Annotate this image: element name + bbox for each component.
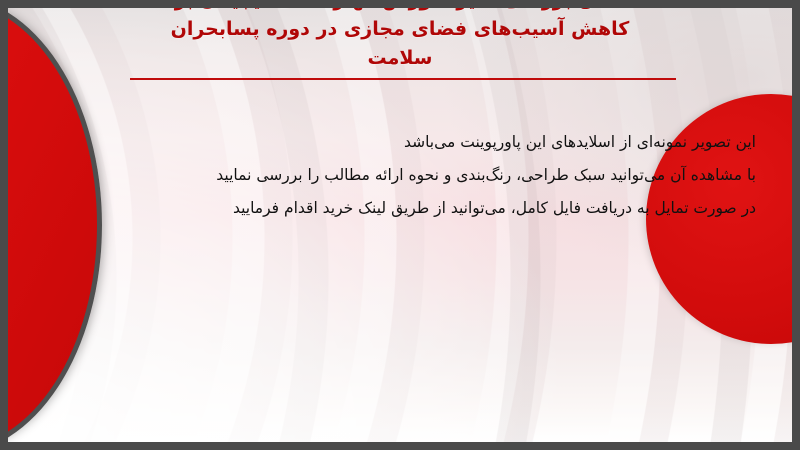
presentation-slide: کامل بررسی تأثیر آموزش مهارت‌های دیجیتال… <box>0 0 800 450</box>
body-line-2: با مشاهده آن می‌توانید سبک طراحی، رنگ‌بن… <box>66 159 756 192</box>
title-line-2: کاهش آسیب‌های فضای مجازی در دوره پسابحرا… <box>118 15 682 44</box>
title-divider <box>130 78 676 80</box>
title-line-3: سلامت <box>118 44 682 73</box>
slide-title: کامل بررسی تأثیر آموزش مهارت‌های دیجیتال… <box>8 8 792 73</box>
slide-body: این تصویر نمونه‌ای از اسلایدهای این پاور… <box>66 126 756 225</box>
body-line-3: در صورت تمایل به دریافت فایل کامل، می‌تو… <box>66 192 756 225</box>
slide-canvas: کامل بررسی تأثیر آموزش مهارت‌های دیجیتال… <box>8 8 792 442</box>
title-line-1: کامل بررسی تأثیر آموزش مهارت‌های دیجیتال… <box>118 8 682 15</box>
body-line-1: این تصویر نمونه‌ای از اسلایدهای این پاور… <box>66 126 756 159</box>
